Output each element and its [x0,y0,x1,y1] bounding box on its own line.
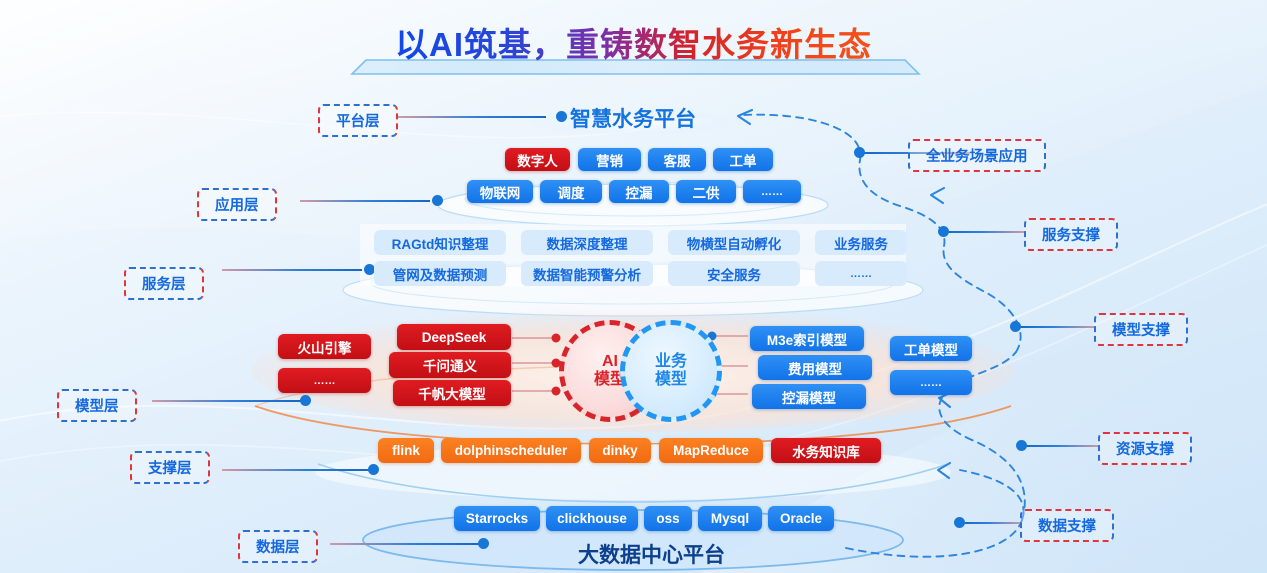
connector-dot-platform [556,111,567,122]
model-box-label: DeepSeek [422,330,487,345]
model-box-deepseek[interactable]: DeepSeek [397,324,511,350]
sidebar-item-model-layer[interactable]: 模型层 [57,389,137,422]
connector-data-support [960,522,1022,524]
vendor-box-label: 火山引擎 [298,337,352,357]
page-title: 以AI筑基，重铸数智水务新生态 [0,18,1267,66]
service-box-label: …… [850,268,872,280]
service-box-label: 业务服务 [834,233,888,253]
service-box-label: 管网及数据预测 [393,264,488,284]
biz-model-box-label: 工单模型 [904,339,958,359]
service-box-label: 数据智能预警分析 [533,264,641,284]
connector-resource-support [1022,445,1100,447]
model-support-label: 模型支撑 [1112,323,1170,339]
app-tag-label: 工单 [730,150,757,170]
app-tag-label: 数字人 [517,150,558,170]
data-box-mysql[interactable]: Mysql [698,506,762,531]
connector-data [330,543,480,545]
service-box-label: 安全服务 [707,264,761,284]
sidebar-item-all-business-scenario[interactable]: 全业务场景应用 [908,139,1046,172]
connector-platform [398,116,546,118]
sidebar-item-application-layer[interactable]: 应用层 [197,188,277,221]
model-box-label: 千问通义 [423,355,477,375]
data-box-label: Oracle [780,511,822,526]
connector-dot-model [300,395,311,406]
app-tag-dispatch[interactable]: 调度 [540,180,602,203]
connector-service [222,269,362,271]
vendor-box-label: …… [314,375,336,387]
sidebar-item-model-support[interactable]: 模型支撑 [1094,313,1188,346]
biz-model-box-label: 费用模型 [788,358,842,378]
service-support-label: 服务支撑 [1042,228,1100,244]
app-tag-label: 物联网 [480,182,521,202]
support-box-label: dolphinscheduler [455,443,568,458]
support-layer-label: 支撑层 [148,461,192,477]
service-box-rag[interactable]: RAGtd知识整理 [374,230,506,255]
app-tag-more[interactable]: …… [743,180,801,203]
connector-model [152,400,302,402]
support-box-label: MapReduce [673,443,749,458]
service-box-auto-model[interactable]: 物横型自动孵化 [668,230,800,255]
page-title-text: 以AI筑基，重铸数智水务新生态 [395,18,872,66]
model-box-qianwen-tongyi[interactable]: 千问通义 [389,352,511,378]
sidebar-item-data-layer[interactable]: 数据层 [238,530,318,563]
business-model-circle[interactable]: 业务 模型 [620,320,722,422]
connector-dot-service-support [938,226,949,237]
support-box-label: flink [392,443,420,458]
service-box-label: 物横型自动孵化 [687,233,782,253]
data-support-label: 数据支撑 [1038,519,1096,535]
connector-model-support [1016,326,1096,328]
data-box-label: oss [656,511,679,526]
service-layer-label: 服务层 [142,277,186,293]
biz-model-box-more[interactable]: …… [890,370,972,395]
support-box-water-knowledge-base[interactable]: 水务知识库 [771,438,881,463]
app-tag-digital-human[interactable]: 数字人 [505,148,570,171]
support-box-dolphinscheduler[interactable]: dolphinscheduler [441,438,581,463]
app-tag-label: 二供 [693,182,720,202]
sidebar-item-resource-support[interactable]: 资源支撑 [1098,432,1192,465]
data-box-label: Mysql [711,511,749,526]
connector-dot-data-support [954,517,965,528]
app-tag-label: 客服 [664,150,691,170]
data-center-heading: 大数据中心平台 [578,539,725,569]
service-box-label: RAGtd知识整理 [392,233,489,253]
biz-model-box-label: M3e索引模型 [767,329,847,349]
resource-support-label: 资源支撑 [1116,442,1174,458]
business-model-line2: 模型 [655,371,687,389]
app-tag-customer-service[interactable]: 客服 [648,148,706,171]
service-box-business-service[interactable]: 业务服务 [815,230,907,255]
sidebar-item-data-support[interactable]: 数据支撑 [1020,509,1114,542]
connector-service-support [944,231,1026,233]
app-tag-work-order[interactable]: 工单 [713,148,773,171]
data-box-starrocks[interactable]: Starrocks [454,506,540,531]
model-box-qianfan[interactable]: 千帆大模型 [393,380,511,406]
data-box-label: Starrocks [466,511,528,526]
service-box-smart-alert[interactable]: 数据智能预警分析 [521,261,653,286]
app-tag-leak-control[interactable]: 控漏 [609,180,669,203]
connector-dot-support [368,464,379,475]
application-layer-label: 应用层 [215,198,259,214]
connector-dot-data [478,538,489,549]
support-box-mapreduce[interactable]: MapReduce [659,438,763,463]
connector-dot-model-support [1010,321,1021,332]
biz-model-box-work-order[interactable]: 工单模型 [890,336,972,361]
support-box-label: dinky [602,443,637,458]
sidebar-item-service-layer[interactable]: 服务层 [124,267,204,300]
vendor-box-volcano-engine[interactable]: 火山引擎 [278,334,371,359]
app-tag-label: 调度 [558,182,585,202]
data-box-clickhouse[interactable]: clickhouse [546,506,638,531]
app-tag-label: 控漏 [626,182,653,202]
support-box-flink[interactable]: flink [378,438,434,463]
connector-dot-resource-support [1016,440,1027,451]
data-center-heading-text: 大数据中心平台 [578,544,725,567]
model-layer-label: 模型层 [75,399,119,415]
service-box-label: 数据深度整理 [547,233,628,253]
app-tag-label: 营销 [596,150,623,170]
app-tag-label: …… [761,186,783,198]
data-box-oss[interactable]: oss [644,506,692,531]
support-box-label: 水务知识库 [792,441,860,461]
biz-model-box-label: 控漏模型 [782,387,836,407]
data-box-oracle[interactable]: Oracle [768,506,834,531]
service-box-security[interactable]: 安全服务 [668,261,800,286]
business-model-line1: 业务 [655,353,687,371]
diagram-canvas: 以AI筑基，重铸数智水务新生态 平台层 应用层 服务层 模型层 支撑层 数据层 … [0,0,1267,573]
all-business-scenario-label: 全业务场景应用 [926,149,1028,165]
platform-heading-text: 智慧水务平台 [570,108,696,131]
data-layer-label: 数据层 [256,540,300,556]
connector-dot-application [432,195,443,206]
service-box-deep-data[interactable]: 数据深度整理 [521,230,653,255]
platform-heading: 智慧水务平台 [570,103,696,133]
vendor-box-more[interactable]: …… [278,368,371,393]
app-tag-iot[interactable]: 物联网 [467,180,533,203]
app-tag-secondary-supply[interactable]: 二供 [676,180,736,203]
biz-model-box-m3e-index[interactable]: M3e索引模型 [750,326,864,351]
support-box-dinky[interactable]: dinky [589,438,651,463]
sidebar-item-platform-layer[interactable]: 平台层 [318,104,398,137]
biz-model-box-label: …… [920,377,942,389]
connector-support [222,469,370,471]
sidebar-item-service-support[interactable]: 服务支撑 [1024,218,1118,251]
biz-model-box-fee[interactable]: 费用模型 [758,355,872,380]
connector-application [300,200,430,202]
data-box-label: clickhouse [557,511,627,526]
connector-dot-all-business [854,147,865,158]
service-box-more[interactable]: …… [815,261,907,286]
service-box-pipe-forecast[interactable]: 管网及数据预测 [374,261,506,286]
app-tag-marketing[interactable]: 营销 [578,148,641,171]
model-box-label: 千帆大模型 [418,383,486,403]
platform-layer-label: 平台层 [336,114,380,130]
sidebar-item-support-layer[interactable]: 支撑层 [130,451,210,484]
biz-model-box-leak-control[interactable]: 控漏模型 [752,384,866,409]
